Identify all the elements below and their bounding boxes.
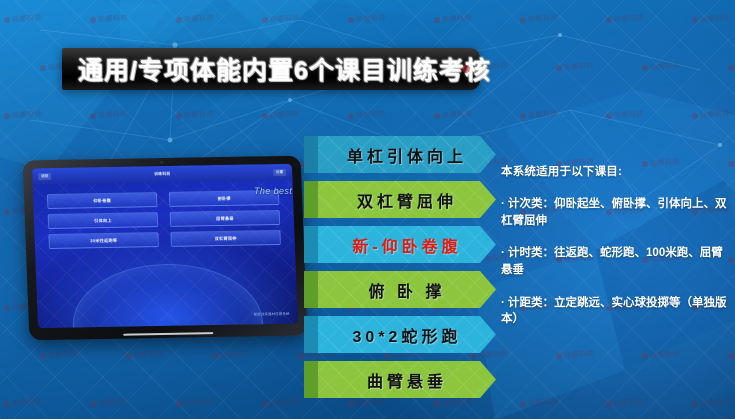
slide-title-banner: 通用/专项体能内置6个课目训练考核 xyxy=(62,48,480,90)
screen-title: 训练科目 xyxy=(151,170,173,178)
screen-back-button: 返回 xyxy=(38,172,51,179)
slide-canvas: 动感科技动感科技动感科技动感科技动感科技动感科技动感科技动感科技动感科技动感科技… xyxy=(0,0,735,419)
screen-button: 双杠臂屈伸 xyxy=(170,230,281,247)
course-arrow-body[interactable]: 俯 卧 撑 xyxy=(318,271,496,308)
course-arrow-list: 单杠引体向上双杠臂屈伸新-仰卧卷腹俯 卧 撑30*2蛇形跑曲臂悬垂 xyxy=(304,136,496,408)
home-indicator xyxy=(123,332,213,336)
course-arrow-label: 曲臂悬垂 xyxy=(367,368,447,392)
course-arrow-body[interactable]: 单杠引体向上 xyxy=(318,136,496,173)
course-arrow-row[interactable]: 双杠臂屈伸 xyxy=(304,181,496,218)
info-bullet: · 计时类：往返跑、蛇形跑、100米跑、屈臂悬垂 xyxy=(501,245,729,278)
screen-button: 仰卧卷腹 xyxy=(47,192,158,209)
course-arrow-tab xyxy=(304,271,318,308)
course-arrow-tab xyxy=(304,181,318,218)
course-arrow-label: 双杠臂屈伸 xyxy=(357,188,457,212)
course-arrow-tab xyxy=(304,361,318,398)
screen-button: 30米往返跑等 xyxy=(48,232,159,249)
info-bullet: · 计距类：立定跳远、实心球投掷等（单独版本） xyxy=(501,295,729,328)
screen-button-grid: 仰卧卷腹 俯卧撑 引体向上 屈臂悬垂 30米往返跑等 双杠臂屈伸 xyxy=(47,190,281,249)
course-arrow-tab xyxy=(304,136,318,173)
course-arrow-label: 新-仰卧卷腹 xyxy=(352,233,461,257)
page-title: 通用/专项体能内置6个课目训练考核 xyxy=(78,51,491,87)
course-arrow-label: 俯 卧 撑 xyxy=(369,278,446,302)
course-arrow-row[interactable]: 新-仰卧卷腹 xyxy=(304,226,496,263)
course-arrow-body[interactable]: 曲臂悬垂 xyxy=(318,361,496,398)
tablet-body: 返回 训练科目 设置 仰卧卷腹 俯卧撑 引体向上 屈臂悬垂 30米往返跑等 双杠… xyxy=(23,156,308,341)
course-arrow-label: 单杠引体向上 xyxy=(347,143,467,167)
course-arrow-row[interactable]: 单杠引体向上 xyxy=(304,136,496,173)
course-arrow-tab xyxy=(304,226,318,263)
tablet-device-image: 返回 训练科目 设置 仰卧卷腹 俯卧撑 引体向上 屈臂悬垂 30米往返跑等 双杠… xyxy=(23,156,308,341)
info-panel: 本系统适用于以下课目: · 计次类：仰卧起坐、俯卧撑、引体向上、双杠臂屈伸 · … xyxy=(501,163,729,344)
course-arrow-body[interactable]: 30*2蛇形跑 xyxy=(318,316,496,353)
course-arrow-label: 30*2蛇形跑 xyxy=(353,323,462,347)
course-arrow-row[interactable]: 30*2蛇形跑 xyxy=(304,316,496,353)
course-arrow-row[interactable]: 曲臂悬垂 xyxy=(304,361,496,398)
screen-button: 屈臂悬垂 xyxy=(170,210,281,227)
banner-dot-icon xyxy=(462,65,470,73)
info-bullet: · 计次类：仰卧起坐、俯卧撑、引体向上、双杠臂屈伸 xyxy=(501,196,729,229)
course-arrow-row[interactable]: 俯 卧 撑 xyxy=(304,271,496,308)
tablet-caption: The best xyxy=(254,186,292,196)
course-arrow-tab xyxy=(304,316,318,353)
screen-button: 引体向上 xyxy=(48,212,159,229)
screen-footer: 智能训练器材应用系统 xyxy=(254,311,290,317)
info-heading: 本系统适用于以下课目: xyxy=(501,163,729,179)
screen-settings-button: 设置 xyxy=(273,168,286,175)
camera-icon xyxy=(160,161,163,164)
course-arrow-body[interactable]: 新-仰卧卷腹 xyxy=(318,226,496,263)
course-arrow-body[interactable]: 双杠臂屈伸 xyxy=(318,181,496,218)
